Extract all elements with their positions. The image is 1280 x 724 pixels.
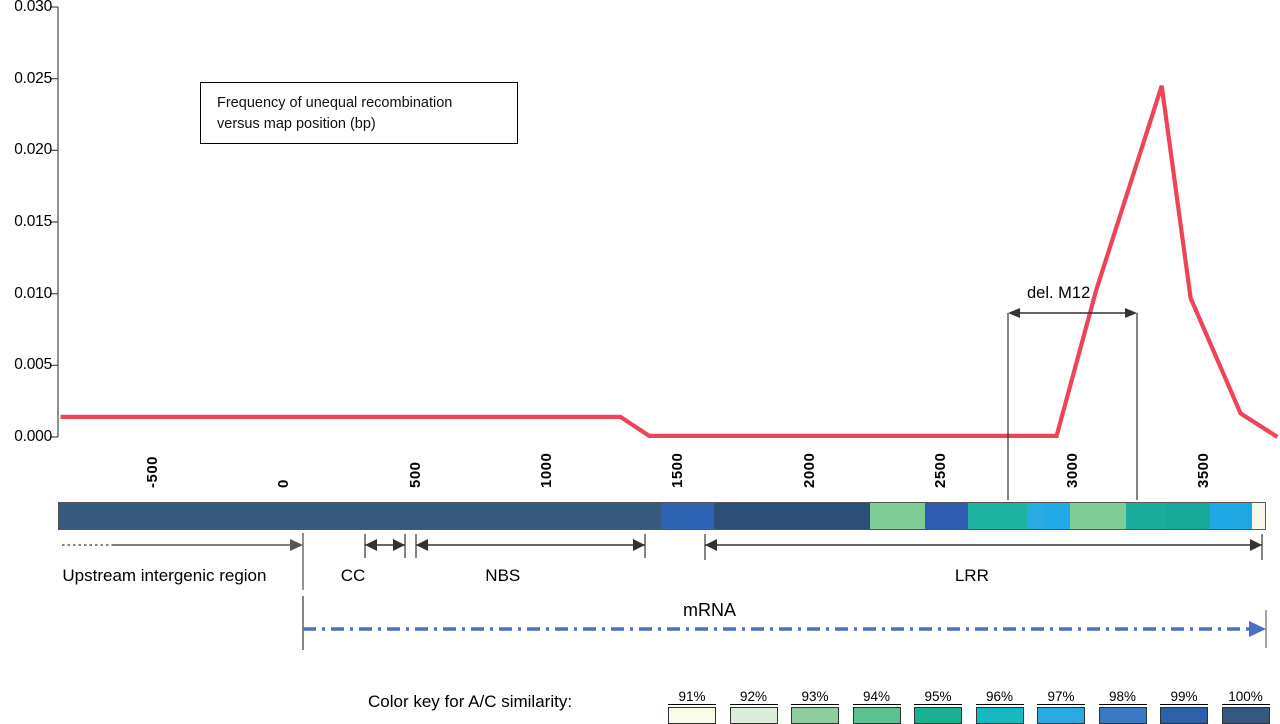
y-tick-label: 0.015 (0, 213, 52, 231)
legend-item-percent: 100% (1222, 689, 1270, 705)
legend-item: 97% (1033, 689, 1089, 724)
legend-item-swatch (1099, 707, 1147, 724)
gene-bar-segment (1070, 503, 1126, 529)
gene-bar-segment (59, 503, 661, 529)
x-tick-label: 1500 (669, 453, 686, 488)
gene-bar-segment (661, 503, 715, 529)
x-tick-label: 2000 (801, 453, 818, 488)
chart-title-line-2: versus map position (bp) (217, 114, 517, 135)
legend-item-percent: 91% (668, 689, 716, 705)
x-tick-label: 500 (407, 461, 424, 488)
y-tick-label: 0.020 (0, 141, 52, 159)
y-tick-label: 0.000 (0, 428, 52, 446)
mrna-track (303, 596, 1266, 650)
x-tick-label: 0 (275, 479, 292, 488)
x-tick-label: 3500 (1195, 453, 1212, 488)
legend-item-percent: 94% (853, 689, 901, 705)
legend-item: 91% (664, 689, 720, 724)
y-tick-label: 0.010 (0, 285, 52, 303)
domain-arrow-lrr (705, 534, 1262, 560)
legend-item: 95% (910, 689, 966, 724)
legend-item: 96% (972, 689, 1028, 724)
x-tick-label: -500 (144, 456, 161, 488)
x-tick-label: 3000 (1064, 453, 1081, 488)
x-tick-label: 2500 (932, 453, 949, 488)
legend-item: 92% (726, 689, 782, 724)
legend-item-swatch (730, 707, 778, 724)
legend-item-percent: 96% (976, 689, 1024, 705)
legend-item-percent: 92% (730, 689, 778, 705)
domain-label-text: NBS (485, 566, 520, 586)
gene-bar-segment (925, 503, 968, 529)
mrna-label: mRNA (683, 600, 736, 621)
gene-bar-segment (870, 503, 925, 529)
domain-label-text: LRR (955, 566, 989, 586)
domain-label-text: CC (341, 566, 366, 586)
legend-title: Color key for A/C similarity: (368, 692, 572, 712)
y-tick-label: 0.025 (0, 70, 52, 88)
legend-item: 93% (787, 689, 843, 724)
y-tick-label: 0.030 (0, 0, 52, 16)
x-tick-label: 1000 (538, 453, 555, 488)
chart-title-box: Frequency of unequal recombination versu… (200, 82, 518, 144)
gene-bar-segment (1126, 503, 1165, 529)
legend-item-percent: 93% (791, 689, 839, 705)
legend-item-swatch (1222, 707, 1270, 724)
legend-item-swatch (668, 707, 716, 724)
legend-item-swatch (976, 707, 1024, 724)
gene-bar-segment (1043, 503, 1070, 529)
domain-arrow-cc (365, 534, 405, 558)
legend-item: 98% (1095, 689, 1151, 724)
legend-item: 99% (1156, 689, 1212, 724)
y-tick-label: 0.005 (0, 356, 52, 374)
del-m12-label: del. M12 (1027, 284, 1090, 303)
domain-arrow-nbs (416, 534, 645, 558)
legend-item-swatch (914, 707, 962, 724)
gene-bar-segment (1210, 503, 1252, 529)
gene-bar-segment (1027, 503, 1043, 529)
legend-item-swatch (1037, 707, 1085, 724)
gene-similarity-bar (58, 502, 1266, 530)
figure-canvas (0, 0, 1280, 724)
figure-root: 0.0000.0050.0100.0150.0200.0250.030 -500… (0, 0, 1280, 724)
gene-bar-segment (1166, 503, 1210, 529)
legend-item-swatch (1160, 707, 1208, 724)
legend-item-percent: 97% (1037, 689, 1085, 705)
legend-item: 94% (849, 689, 905, 724)
legend-item-percent: 95% (914, 689, 962, 705)
gene-bar-segment (968, 503, 1027, 529)
domain-label-text: Upstream intergenic region (62, 566, 266, 586)
legend-item-percent: 98% (1099, 689, 1147, 705)
legend-item-percent: 99% (1160, 689, 1208, 705)
gene-bar-segment (714, 503, 870, 529)
legend-item-swatch (791, 707, 839, 724)
gene-bar-segment (1252, 503, 1265, 529)
legend-item-swatch (853, 707, 901, 724)
chart-title-line-1: Frequency of unequal recombination (217, 93, 517, 114)
legend-item: 100% (1218, 689, 1274, 724)
